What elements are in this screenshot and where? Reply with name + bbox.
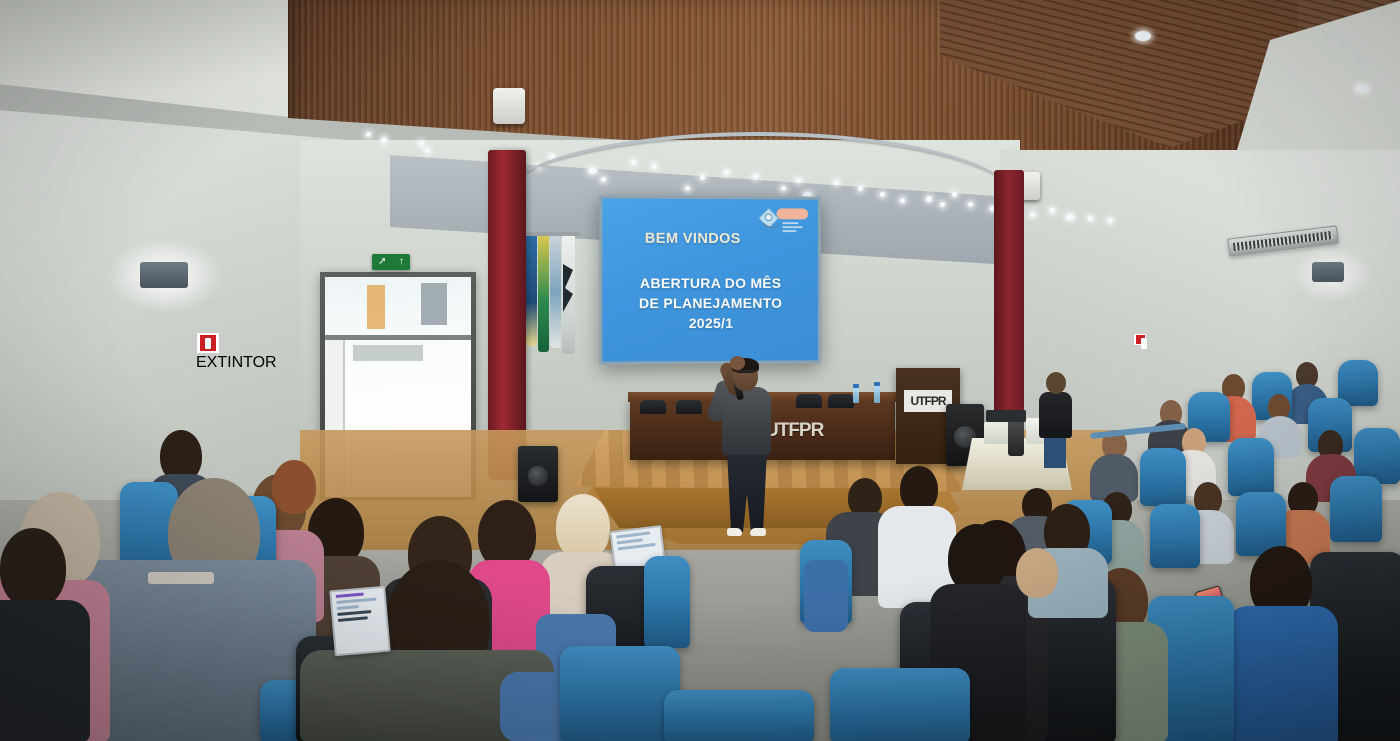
fire-extinguisher-label: EXTINTOR — [196, 354, 277, 372]
auditorium-seat[interactable] — [1330, 476, 1382, 542]
water-bottle — [853, 387, 859, 403]
staff-torso — [1039, 392, 1072, 438]
hanging-flags — [526, 236, 580, 356]
audience-torso — [0, 600, 90, 741]
audience-jeans — [804, 560, 848, 632]
ceiling-downlight — [1030, 212, 1035, 217]
exit-arrow-icon: ↑ — [399, 257, 404, 267]
auditorium-photo: EXTINTOR ➚ ↑ — [0, 0, 1400, 741]
presenter-hand — [730, 356, 745, 370]
slide-line-1: ABERTURA DO MÊS — [602, 273, 818, 293]
speaker-cone-icon — [528, 466, 548, 486]
slide-line-3: 2025/1 — [602, 313, 818, 334]
auditorium-seat[interactable] — [1228, 438, 1274, 496]
auditorium-seat[interactable] — [830, 668, 970, 741]
ceiling-spotlight — [1135, 31, 1151, 41]
door-mullion — [325, 335, 471, 340]
ceiling-downlight — [940, 202, 945, 207]
audience-head — [272, 460, 316, 514]
table-chair — [796, 394, 822, 408]
pa-speaker — [518, 446, 558, 502]
presenter-shoe — [727, 528, 742, 536]
audience-head — [1016, 548, 1058, 598]
ceiling-downlight — [1108, 218, 1113, 223]
tablet-screen[interactable] — [329, 586, 391, 657]
lanyard — [148, 572, 214, 584]
auditorium-seat[interactable] — [1150, 504, 1200, 568]
slide-line-2: DE PLANEJAMENTO — [602, 293, 818, 313]
corridor-object — [421, 283, 447, 325]
ceiling-downlight — [1050, 208, 1055, 213]
wall-sconce-light — [140, 262, 188, 288]
exit-runner-icon: ➚ — [378, 257, 386, 267]
ceiling-downlight — [419, 141, 424, 146]
slide-body-text: ABERTURA DO MÊS DE PLANEJAMENTO 2025/1 — [602, 273, 818, 333]
bottle-cap — [853, 384, 859, 388]
corridor-floor-shadow — [353, 345, 423, 361]
wall-sconce-light — [1312, 262, 1344, 282]
thermos-flask — [1008, 420, 1024, 456]
coffee-container — [984, 422, 1010, 444]
equipment-case — [986, 410, 1026, 422]
ceiling-downlight — [425, 148, 430, 153]
presenter-shoe — [750, 528, 766, 536]
presentation-slide: BEM VINDOS ABERTURA DO MÊS DE PLANEJAMEN… — [602, 198, 818, 361]
auditorium-seat[interactable] — [560, 646, 680, 741]
projector-screen: BEM VINDOS ABERTURA DO MÊS DE PLANEJAMEN… — [599, 195, 821, 364]
water-bottle — [874, 385, 880, 403]
fire-extinguisher-sign — [196, 332, 220, 354]
ceiling-downlight — [1088, 216, 1093, 221]
audience-head-blonde — [556, 494, 610, 560]
bottle-cap — [874, 382, 880, 386]
audience-torso — [1226, 606, 1338, 741]
ceiling-downlight — [1066, 214, 1074, 220]
slide-welcome-text: BEM VINDOS — [645, 231, 741, 247]
table-chair — [828, 394, 854, 408]
ceiling-downlight — [381, 137, 387, 143]
ceiling-downlight — [968, 202, 973, 207]
fire-extinguisher-sign — [1133, 333, 1147, 346]
ceiling-downlight — [366, 132, 371, 137]
staff-legs — [1044, 434, 1066, 468]
exit-sign: ➚ ↑ — [372, 254, 410, 270]
audience-head — [0, 528, 66, 608]
auditorium-seat[interactable] — [644, 556, 690, 648]
auditorium-seat[interactable] — [1140, 448, 1186, 506]
corridor-object — [367, 285, 385, 329]
staff-member — [1038, 372, 1072, 462]
table-chair — [676, 400, 702, 414]
table-chair — [640, 400, 666, 414]
auditorium-seat[interactable] — [664, 690, 814, 741]
table-brand-logo: UTFPR — [765, 420, 835, 446]
institution-logo-icon — [755, 205, 810, 239]
wall-speaker-icon — [493, 88, 525, 124]
ceiling-spotlight — [1355, 84, 1369, 93]
staff-head — [1046, 372, 1066, 394]
banner-brand-logo: UTFPR — [904, 390, 952, 412]
presenter-glasses — [735, 370, 756, 375]
